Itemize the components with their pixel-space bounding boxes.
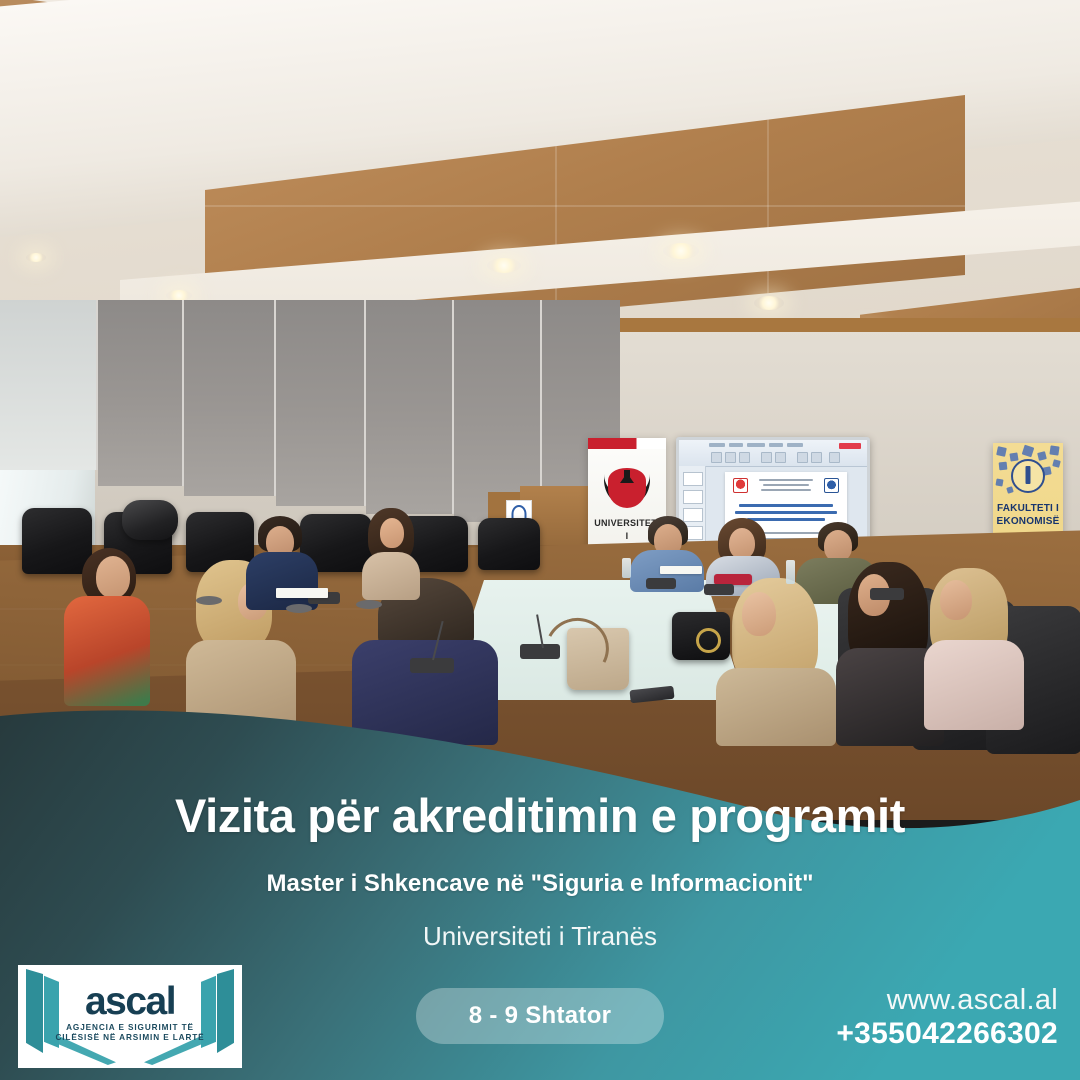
banner-fe-line2: EKONOMISË (993, 516, 1063, 528)
screen-ribbon (679, 440, 867, 467)
ut-crest-icon (600, 464, 654, 510)
page-title: Vizita për akreditimin e programit (0, 788, 1080, 843)
water-bottle (786, 560, 795, 584)
logo-wordmark: ascal (85, 982, 175, 1021)
date-badge-label: 8 - 9 Shtator (469, 1002, 612, 1030)
conference-room-photo: UNIVERSITETI I TIRANË (0, 0, 1080, 820)
microphone-unit (410, 658, 454, 673)
chair (478, 518, 540, 570)
organization-name: Universiteti i Tiranës (0, 921, 1080, 952)
microphone-unit (870, 588, 904, 600)
microphone-base (196, 596, 222, 605)
phone-number[interactable]: +355042266302 (836, 1018, 1058, 1050)
slide-logo-left (733, 478, 748, 493)
microphone-unit (646, 578, 676, 589)
ceiling-spot-3 (754, 296, 784, 310)
contact-block: www.ascal.al +355042266302 (836, 985, 1058, 1050)
poster-canvas: UNIVERSITETI I TIRANË (0, 0, 1080, 1080)
banner-red-header (588, 438, 666, 449)
fe-emblem-icon (1011, 459, 1045, 493)
water-bottle (622, 558, 631, 578)
program-subtitle: Master i Shkencave në "Siguria e Informa… (0, 870, 1080, 898)
date-badge[interactable]: 8 - 9 Shtator (416, 988, 664, 1044)
ceiling-spot-2 (663, 243, 699, 259)
microphone-base (356, 600, 382, 609)
chair (22, 508, 92, 574)
logo-tagline-line2: CILËSISË NË ARSIMIN E LARTË (18, 1033, 242, 1042)
microphone-base (286, 604, 312, 613)
ascal-logo[interactable]: ascal AGJENCIA E SIGURIMIT TË CILËSISË N… (18, 965, 242, 1068)
logo-tagline-line1: AGJENCIA E SIGURIMIT TË (18, 1023, 242, 1032)
slide-logo-right (824, 478, 839, 493)
microphone-unit (704, 584, 734, 595)
paper-sheet (660, 566, 702, 574)
wall-wood-trim (555, 318, 1080, 332)
banner-fe-line1: FAKULTETI I (993, 503, 1063, 515)
paper-sheet (276, 588, 328, 598)
ceiling-spot-9 (26, 253, 46, 262)
handbag-black (672, 612, 730, 660)
ceiling-spot-1 (487, 258, 521, 273)
chair (122, 500, 178, 540)
website-link[interactable]: www.ascal.al (836, 985, 1058, 1016)
